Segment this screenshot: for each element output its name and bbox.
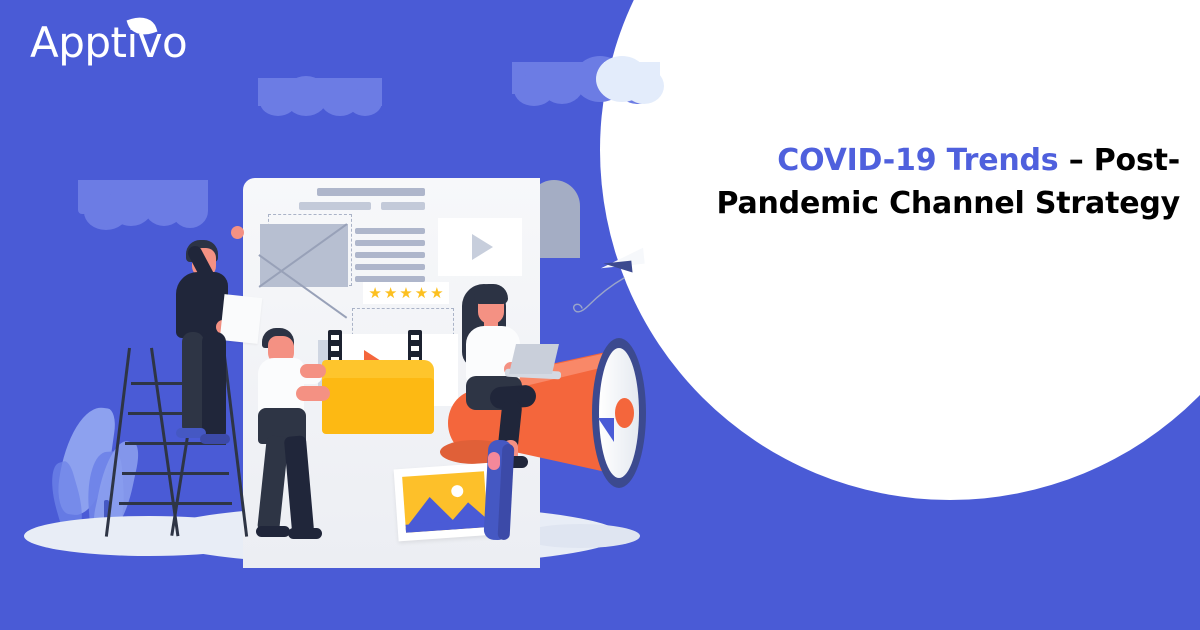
white-circle-backdrop [600, 0, 1200, 500]
doc-subtitle-bar-2 [381, 202, 425, 210]
doc-title-bar [317, 188, 425, 196]
star-icon: ★ [399, 286, 412, 301]
laptop-screen [509, 344, 559, 374]
folder-person-hand-upper [300, 364, 326, 378]
cloud-mid-left [258, 78, 382, 106]
doc-subtitle-bar-1 [299, 202, 371, 210]
cloud-top-left [78, 180, 208, 214]
doc-text-line-4 [355, 264, 425, 270]
star-rating-card: ★ ★ ★ ★ ★ [363, 282, 449, 304]
photo-frame [394, 463, 497, 542]
doc-text-line-3 [355, 252, 425, 258]
star-icon: ★ [384, 286, 397, 301]
accent-triangle [598, 418, 614, 442]
doc-text-line-2 [355, 240, 425, 246]
ladder-person-paper [220, 294, 263, 344]
banner-canvas: ★ ★ ★ ★ ★ [0, 0, 1200, 630]
folder-person-torso [258, 358, 304, 414]
folder-person-shoe-front [288, 528, 322, 539]
ladder-person-hand-up [231, 226, 244, 239]
paper-plane-trail [570, 276, 626, 320]
ladder-person-shoe-right [200, 434, 230, 444]
folder-person-hand-lower [296, 386, 330, 401]
star-icon: ★ [415, 286, 428, 301]
video-play-icon[interactable] [472, 234, 493, 260]
ladder-person-leg-left [182, 332, 204, 432]
yellow-folder-front [322, 378, 434, 434]
megaphone-center-dot [615, 398, 634, 428]
folder-person-shoe-back [256, 526, 290, 537]
page-title: COVID-19 Trends – Post-Pandemic Channel … [620, 140, 1180, 225]
photo-image [402, 471, 488, 533]
ladder-step-4 [122, 472, 229, 475]
ladder-step-5 [119, 502, 232, 505]
doc-text-line-1 [355, 228, 425, 234]
cloud-top-right-over-circle [604, 62, 660, 94]
laptop-person-heel [488, 452, 500, 470]
logo[interactable]: Apptivo [30, 22, 187, 64]
laptop-person-hair-front [474, 284, 508, 304]
star-icon: ★ [430, 286, 443, 301]
star-icon: ★ [368, 286, 381, 301]
page-title-accent: COVID-19 Trends [777, 143, 1058, 178]
page-title-separator: – [1058, 143, 1093, 178]
logo-wordmark: Apptivo [30, 22, 187, 64]
ladder-person-leg-right [202, 332, 226, 438]
